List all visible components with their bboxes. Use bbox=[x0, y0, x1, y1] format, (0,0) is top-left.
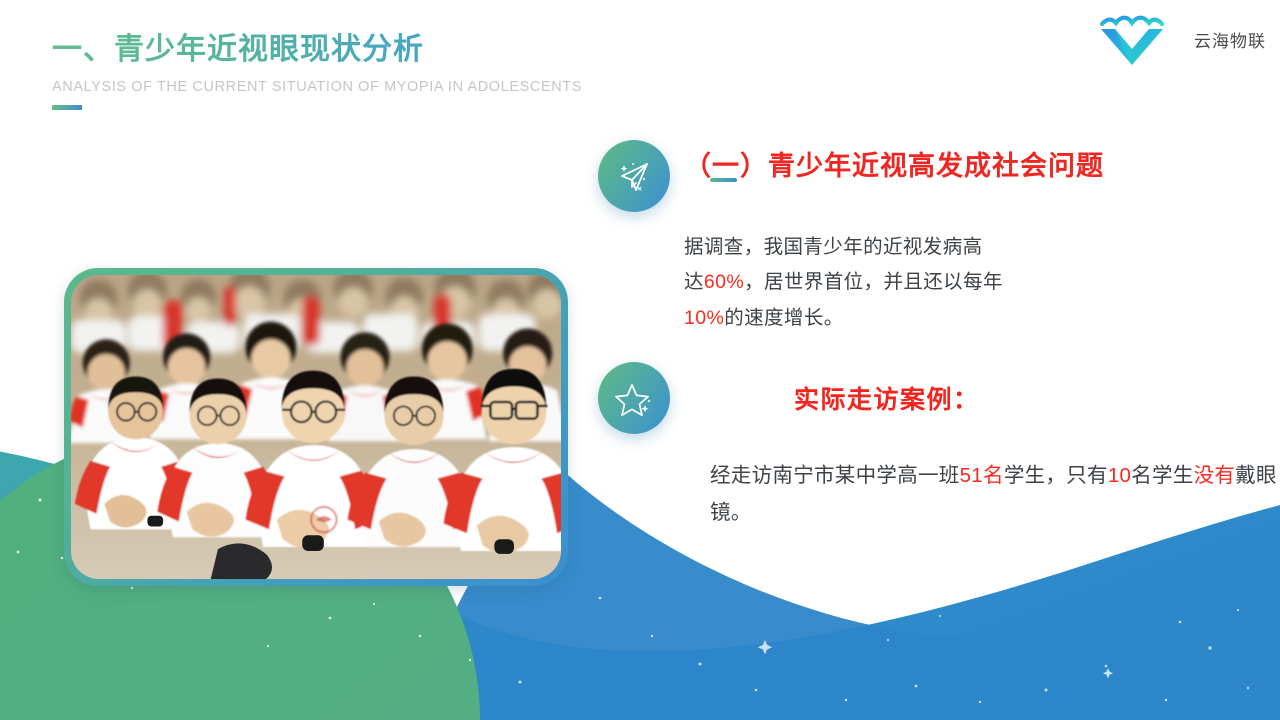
logo-text: 云海物联 bbox=[1194, 27, 1266, 52]
section-heading: （一）青少年近视高发成社会问题 bbox=[684, 147, 1124, 186]
paragraph-line-2-post: ，居世界首位，并且还以每年 bbox=[744, 271, 1003, 293]
page-subtitle: ANALYSIS OF THE CURRENT SITUATION OF MYO… bbox=[52, 79, 582, 95]
paragraph-line-3-post: 的速度增长。 bbox=[724, 307, 843, 329]
stat-10-percent: 10% bbox=[684, 307, 724, 329]
page-title: 一、青少年近视眼现状分析 bbox=[52, 24, 582, 68]
emphasis-no-glasses: 没有 bbox=[1194, 464, 1236, 487]
section-paragraph: 据调查，我国青少年的近视发病高 达60%，居世界首位，并且还以每年 10%的速度… bbox=[684, 230, 1084, 336]
cloud-v-logo-icon bbox=[1099, 12, 1185, 66]
photo-frame[interactable]: students-in-red-and-white-uniforms-appla… bbox=[64, 268, 568, 586]
paper-plane-icon bbox=[614, 156, 654, 196]
case-text-3: 学生，只有 bbox=[1004, 464, 1108, 487]
case-heading-row: 实际走访案例： bbox=[598, 362, 1270, 434]
photo-image: students-in-red-and-white-uniforms-appla… bbox=[71, 275, 561, 579]
stat-60-percent: 60% bbox=[704, 271, 744, 293]
paragraph-line-2-pre: 达 bbox=[684, 271, 704, 293]
case-text-1: 经走访南宁市某中学高一班 bbox=[710, 464, 960, 487]
heading-underline-dash bbox=[710, 178, 737, 182]
paragraph-line-1: 据调查，我国青少年的近视发病高 bbox=[684, 236, 983, 258]
paper-plane-badge[interactable] bbox=[598, 140, 670, 212]
brand-logo[interactable]: 云海物联 bbox=[1099, 12, 1266, 66]
star-icon bbox=[614, 378, 654, 418]
slide-header: 一、青少年近视眼现状分析 ANALYSIS OF THE CURRENT SIT… bbox=[52, 24, 582, 110]
crowd-foreground bbox=[75, 369, 561, 554]
title-underline-dash bbox=[52, 105, 82, 110]
content-column: （一）青少年近视高发成社会问题 据调查，我国青少年的近视发病高 达60%，居世界… bbox=[598, 140, 1270, 531]
case-text-5: 名学生 bbox=[1131, 464, 1193, 487]
case-title: 实际走访案例： bbox=[794, 380, 980, 416]
case-paragraph: 经走访南宁市某中学高一班51名学生，只有10名学生没有戴眼镜。 bbox=[710, 458, 1278, 531]
section-heading-text: （一）青少年近视高发成社会问题 bbox=[684, 151, 1104, 181]
star-badge[interactable] bbox=[598, 362, 670, 434]
stat-51-students: 51名 bbox=[960, 464, 1004, 487]
section-heading-row: （一）青少年近视高发成社会问题 bbox=[598, 140, 1270, 212]
students-photo-illustration bbox=[71, 275, 561, 579]
stat-10-students: 10 bbox=[1108, 464, 1131, 487]
